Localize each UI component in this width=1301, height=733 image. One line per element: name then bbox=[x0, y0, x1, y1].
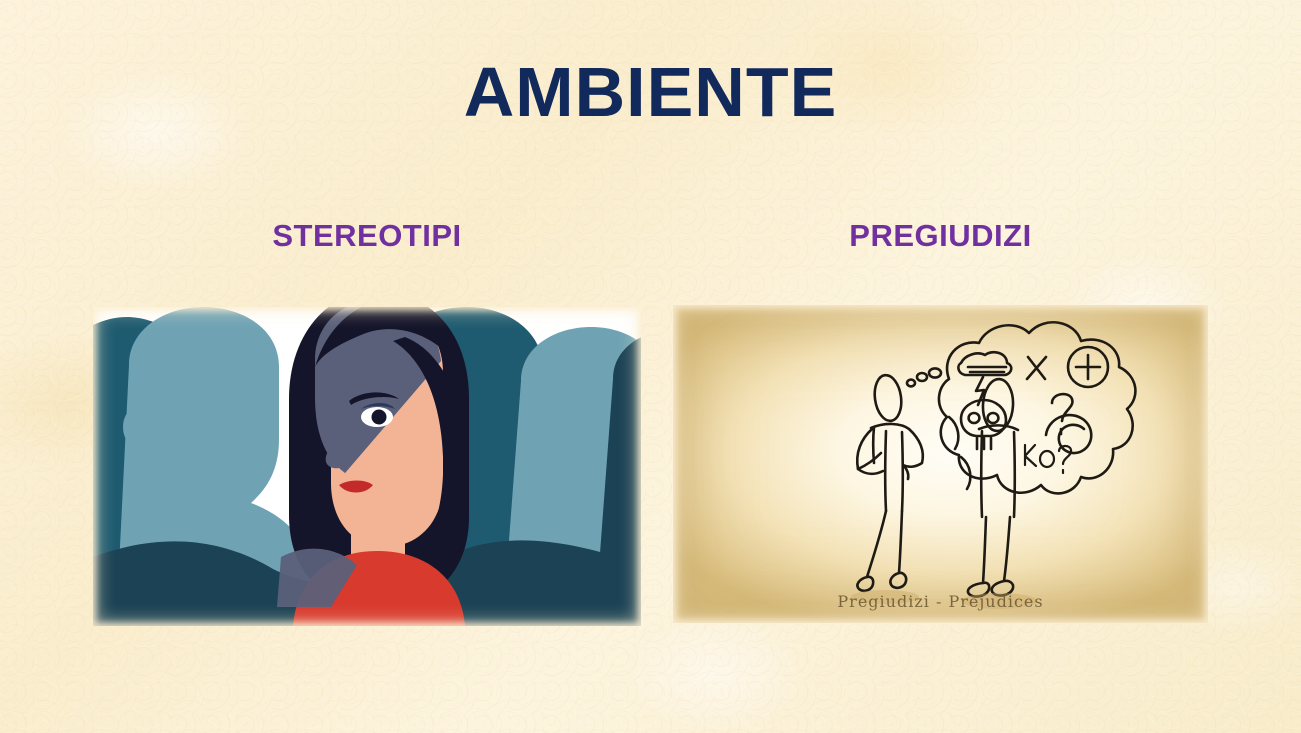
column-heading-pregiudizi: PREGIUDIZI bbox=[673, 218, 1208, 254]
stereotypes-image bbox=[93, 307, 641, 626]
stereotypes-artwork bbox=[93, 307, 641, 626]
slide-canvas: AMBIENTE STEREOTIPI PREGIUDIZI bbox=[0, 0, 1301, 733]
stick-figure-observer bbox=[857, 368, 941, 590]
cloud-symbol-x-mark bbox=[1027, 357, 1046, 379]
woman-figure bbox=[277, 307, 469, 626]
prejudices-vector bbox=[673, 305, 1208, 623]
prejudices-image: Pregiudizi - Prejudices bbox=[673, 305, 1208, 623]
prejudices-caption: Pregiudizi - Prejudices bbox=[673, 592, 1208, 611]
stereotypes-vector bbox=[93, 307, 641, 626]
column-heading-stereotipi: STEREOTIPI bbox=[93, 218, 641, 254]
cloud-symbol-plus-circle bbox=[1068, 347, 1108, 387]
thought-cloud bbox=[939, 322, 1135, 493]
page-title: AMBIENTE bbox=[0, 56, 1301, 130]
stick-figure-judged bbox=[968, 378, 1018, 596]
